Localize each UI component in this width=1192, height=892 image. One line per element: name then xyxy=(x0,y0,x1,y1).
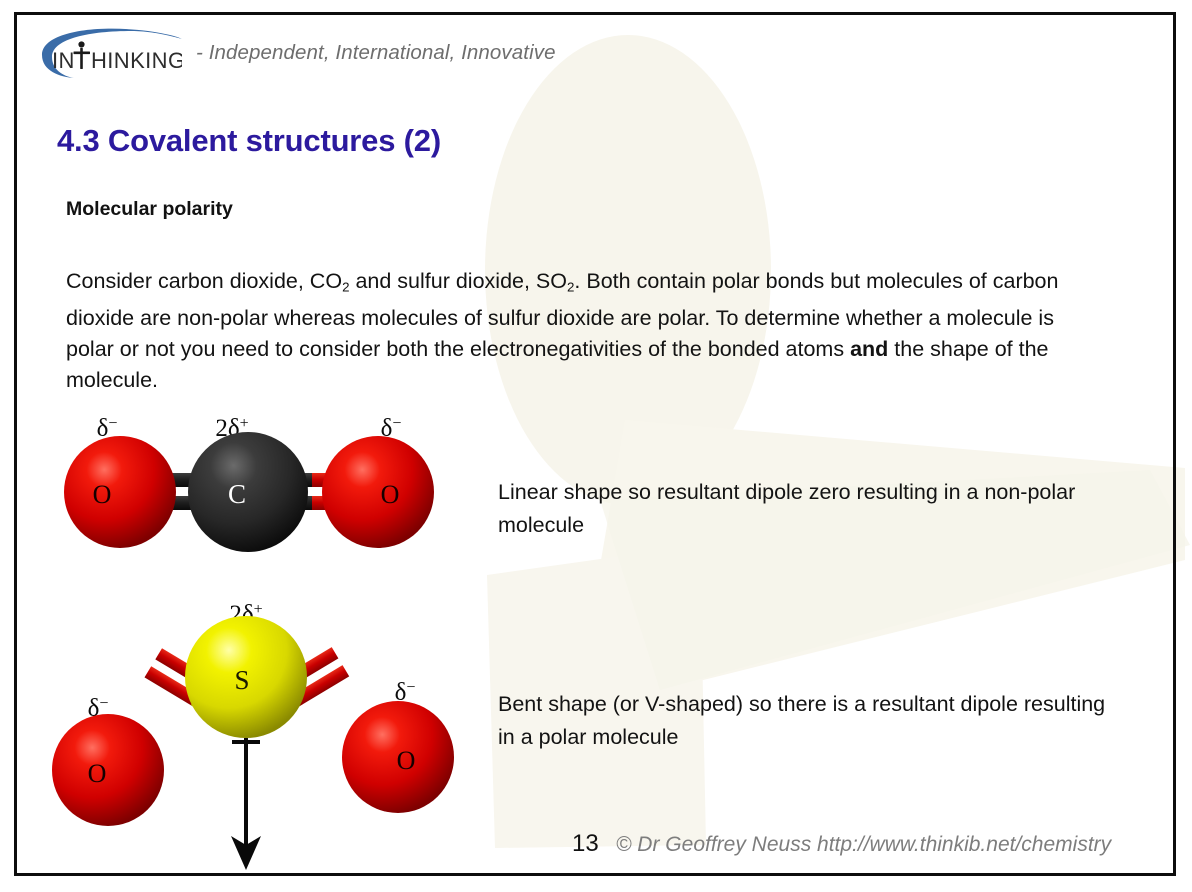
co2-explanation-text: Linear shape so resultant dipole zero re… xyxy=(498,476,1118,542)
inthinking-logo[interactable]: IN HINKING xyxy=(36,25,182,81)
slide-canvas: IN HINKING - Independent, International,… xyxy=(0,0,1192,892)
so2-oxygen-left-atom: O xyxy=(52,714,164,826)
co2-oxygen-left-atom: O xyxy=(64,436,176,548)
svg-text:O: O xyxy=(93,480,112,509)
svg-text:C: C xyxy=(228,479,246,509)
so2-sulfur-atom: S xyxy=(185,616,307,738)
svg-text:O: O xyxy=(381,480,400,509)
svg-text:O: O xyxy=(88,759,107,788)
copyright-notice: © Dr Geoffrey Neuss http://www.thinkib.n… xyxy=(616,833,1111,857)
svg-text:IN: IN xyxy=(52,48,75,73)
so2-dipole-arrow xyxy=(231,738,261,870)
page-number: 13 xyxy=(572,830,599,858)
so2-oxygen-right-atom: O xyxy=(342,701,454,813)
co2-oxygen-right-atom: O xyxy=(322,436,434,548)
para-text-2: and sulfur dioxide, SO xyxy=(349,269,567,293)
section-subtitle: Molecular polarity xyxy=(66,198,233,221)
carbon-dioxide-molecule-diagram: δ− 2δ+ δ− O O xyxy=(60,408,460,573)
co2-carbon-atom: C xyxy=(188,432,308,552)
page-title: 4.3 Covalent structures (2) xyxy=(57,123,441,159)
svg-text:S: S xyxy=(234,665,249,695)
so2-explanation-text: Bent shape (or V-shaped) so there is a r… xyxy=(498,688,1118,754)
svg-text:HINKING: HINKING xyxy=(91,48,182,73)
header-tagline: - Independent, International, Innovative xyxy=(196,41,556,65)
para-bold-and: and xyxy=(850,337,888,361)
body-paragraph: Consider carbon dioxide, CO2 and sulfur … xyxy=(66,266,1096,396)
para-text-1: Consider carbon dioxide, CO xyxy=(66,269,342,293)
svg-text:O: O xyxy=(397,746,416,775)
stick-figure-t-icon xyxy=(74,41,91,69)
sulfur-dioxide-molecule-diagram: 2δ+ δ− δ− O xyxy=(50,592,470,882)
header-bar: IN HINKING - Independent, International,… xyxy=(36,24,556,82)
